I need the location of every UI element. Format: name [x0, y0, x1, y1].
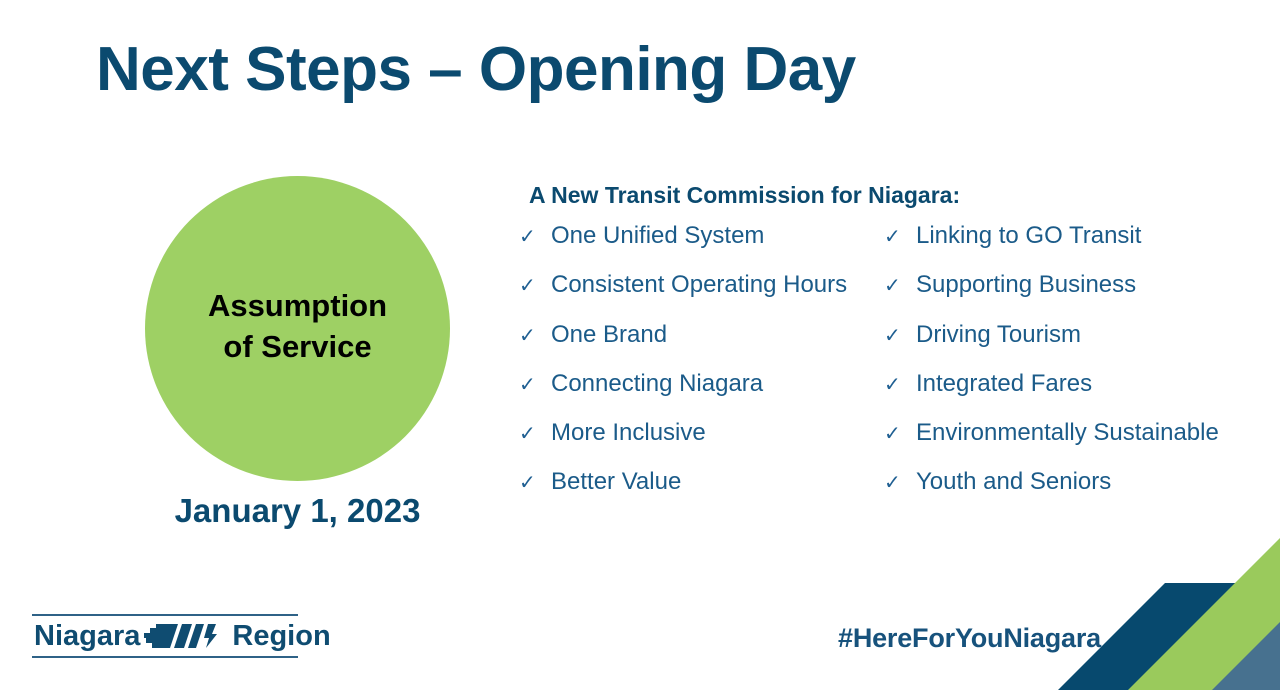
check-icon: ✓ [519, 326, 551, 346]
list-item-label: Linking to GO Transit [916, 224, 1141, 248]
logo-word-region: Region [232, 622, 330, 651]
benefits-heading: A New Transit Commission for Niagara: [529, 182, 960, 209]
list-item-label: Consistent Operating Hours [551, 273, 847, 297]
list-item: ✓ Connecting Niagara [519, 372, 884, 421]
list-item-label: Better Value [551, 470, 681, 494]
logo-bottom-rule [32, 656, 298, 658]
benefits-left-column: ✓ One Unified System ✓ Consistent Operat… [519, 224, 884, 520]
list-item: ✓ Environmentally Sustainable [884, 421, 1259, 470]
list-item-label: Supporting Business [916, 273, 1136, 297]
niagara-region-mark-icon [144, 621, 228, 651]
list-item: ✓ Driving Tourism [884, 323, 1259, 372]
list-item-label: One Brand [551, 323, 667, 347]
list-item: ✓ One Brand [519, 323, 884, 372]
list-item: ✓ Consistent Operating Hours [519, 273, 884, 322]
list-item-label: Youth and Seniors [916, 470, 1111, 494]
corner-band-steel [1212, 622, 1280, 690]
check-icon: ✓ [519, 227, 551, 247]
list-item: ✓ Supporting Business [884, 273, 1259, 322]
assumption-date-label: January 1, 2023 [145, 492, 450, 530]
benefits-right-column: ✓ Linking to GO Transit ✓ Supporting Bus… [884, 224, 1259, 520]
check-icon: ✓ [884, 227, 916, 247]
assumption-circle-line-1: Assumption [208, 286, 387, 327]
list-item-label: Integrated Fares [916, 372, 1092, 396]
check-icon: ✓ [884, 326, 916, 346]
assumption-circle-text: Assumption of Service [208, 286, 387, 372]
campaign-hashtag: #HereForYouNiagara [838, 623, 1101, 654]
check-icon: ✓ [519, 375, 551, 395]
slide-canvas: Next Steps – Opening Day Assumption of S… [0, 0, 1280, 690]
list-item-label: Connecting Niagara [551, 372, 763, 396]
benefits-list: ✓ One Unified System ✓ Consistent Operat… [519, 224, 1259, 520]
assumption-circle-line-2: of Service [208, 327, 387, 368]
list-item: ✓ One Unified System [519, 224, 884, 273]
assumption-of-service-circle: Assumption of Service [145, 176, 450, 481]
check-icon: ✓ [519, 276, 551, 296]
list-item-label: Environmentally Sustainable [916, 421, 1219, 445]
check-icon: ✓ [519, 424, 551, 444]
logo-wordmark-row: Niagara Region [32, 616, 298, 656]
page-title: Next Steps – Opening Day [96, 36, 856, 104]
list-item-label: More Inclusive [551, 421, 706, 445]
list-item: ✓ Better Value [519, 470, 884, 519]
list-item-label: Driving Tourism [916, 323, 1081, 347]
check-icon: ✓ [884, 276, 916, 296]
list-item: ✓ Linking to GO Transit [884, 224, 1259, 273]
logo-word-niagara: Niagara [34, 622, 140, 651]
list-item: ✓ Youth and Seniors [884, 470, 1259, 519]
check-icon: ✓ [884, 424, 916, 444]
check-icon: ✓ [884, 375, 916, 395]
list-item: ✓ Integrated Fares [884, 372, 1259, 421]
list-item-label: One Unified System [551, 224, 764, 248]
niagara-region-logo: Niagara Region [32, 614, 298, 658]
check-icon: ✓ [519, 473, 551, 493]
corner-band-green [1128, 538, 1280, 690]
list-item: ✓ More Inclusive [519, 421, 884, 470]
check-icon: ✓ [884, 473, 916, 493]
